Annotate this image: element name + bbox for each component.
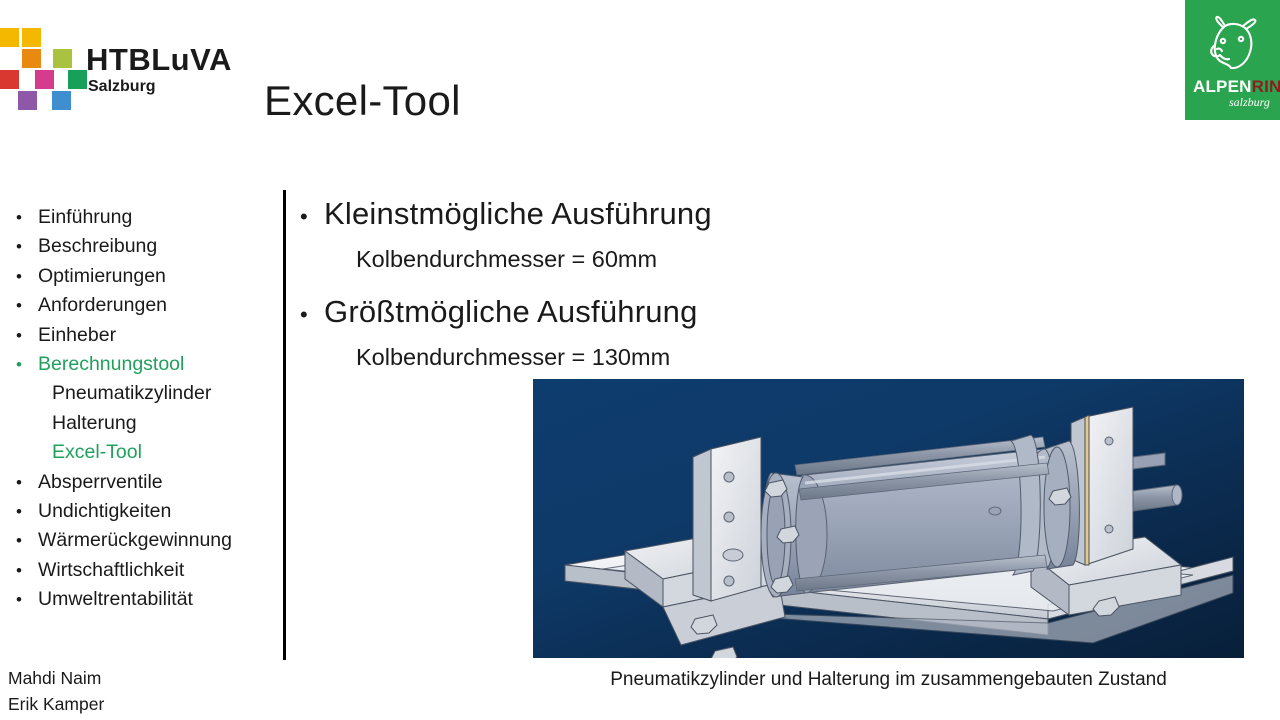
logo-square-3 — [22, 49, 41, 68]
partner-logo-wordmark: ALPENRIND — [1193, 78, 1280, 95]
agenda-item-label: Einheber — [38, 321, 116, 350]
agenda-item-label: Pneumatikzylinder — [52, 379, 211, 408]
bullet-glyph: • — [10, 526, 38, 555]
logo-square-5 — [0, 70, 19, 89]
bullet-glyph: • — [10, 585, 38, 614]
main-detail-1: Kolbendurchmesser = 60mm — [300, 239, 900, 279]
partner-logo: ALPENRIND salzburg — [1185, 0, 1280, 120]
bullet-glyph: • — [10, 556, 38, 585]
main-bullet-1-label: Kleinstmögliche Ausführung — [324, 192, 712, 236]
main-content: • Kleinstmögliche Ausführung Kolbendurch… — [300, 192, 900, 377]
bullet-glyph: • — [300, 293, 324, 337]
agenda-item-label: Excel-Tool — [52, 438, 142, 467]
logo-square-4 — [53, 49, 72, 68]
slide: HTBLuVA Salzburg ALPENRIND salzburg Exce… — [0, 0, 1280, 720]
agenda-item-anforderungen[interactable]: •Anforderungen — [10, 291, 290, 320]
main-bullet-2-label: Größtmögliche Ausführung — [324, 290, 698, 334]
logo-square-6 — [35, 70, 54, 89]
agenda-item-wirtschaftlichkeit[interactable]: •Wirtschaftlichkeit — [10, 556, 290, 585]
agenda-item-einf-hrung[interactable]: •Einführung — [10, 203, 290, 232]
author-2: Erik Kamper — [8, 691, 104, 717]
agenda-item-label: Wärmerückgewinnung — [38, 526, 232, 555]
school-logo-city: Salzburg — [88, 79, 156, 95]
pneumatic-cylinder-illustration — [533, 379, 1244, 658]
main-bullet-1: • Kleinstmögliche Ausführung — [300, 192, 900, 239]
partner-word-alpen: ALPEN — [1193, 77, 1252, 96]
agenda-item-label: Berechnungstool — [38, 350, 184, 379]
agenda-item-label: Undichtigkeiten — [38, 497, 171, 526]
agenda-item-label: Optimierungen — [38, 262, 166, 291]
main-detail-2: Kolbendurchmesser = 130mm — [300, 337, 900, 377]
partner-word-rind: RIND — [1252, 77, 1280, 96]
logo-color-grid — [0, 28, 86, 90]
logo-square-7 — [68, 70, 87, 89]
logo-square-9 — [52, 91, 71, 110]
agenda-item-label: Absperrventile — [38, 468, 163, 497]
agenda-item-label: Beschreibung — [38, 232, 157, 261]
figure-caption: Pneumatikzylinder und Halterung im zusam… — [533, 669, 1244, 691]
school-logo: HTBLuVA Salzburg — [0, 18, 240, 110]
agenda-item-w-rmer-ckgewinnung[interactable]: •Wärmerückgewinnung — [10, 526, 290, 555]
bullet-glyph: • — [10, 321, 38, 350]
agenda-item-excel-tool[interactable]: Excel-Tool — [10, 438, 290, 467]
agenda-item-halterung[interactable]: Halterung — [10, 409, 290, 438]
agenda-list: •Einführung•Beschreibung•Optimierungen•A… — [10, 203, 290, 615]
agenda-item-beschreibung[interactable]: •Beschreibung — [10, 232, 290, 261]
partner-logo-city: salzburg — [1229, 95, 1270, 110]
logo-square-1 — [0, 28, 19, 47]
agenda-item-umweltrentabilit-t[interactable]: •Umweltrentabilität — [10, 585, 290, 614]
bullet-glyph: • — [10, 232, 38, 261]
bullet-glyph: • — [300, 195, 324, 239]
bullet-glyph: • — [10, 497, 38, 526]
cow-head-icon — [1203, 14, 1265, 76]
cad-figure — [533, 379, 1244, 658]
bullet-glyph: • — [10, 203, 38, 232]
agenda-item-label: Wirtschaftlichkeit — [38, 556, 184, 585]
main-bullet-2: • Größtmögliche Ausführung — [300, 290, 900, 337]
agenda-item-label: Anforderungen — [38, 291, 167, 320]
bullet-glyph: • — [10, 262, 38, 291]
agenda-item-label: Halterung — [52, 409, 137, 438]
agenda-item-label: Einführung — [38, 203, 132, 232]
agenda-item-optimierungen[interactable]: •Optimierungen — [10, 262, 290, 291]
logo-square-8 — [18, 91, 37, 110]
agenda-item-einheber[interactable]: •Einheber — [10, 321, 290, 350]
agenda-item-undichtigkeiten[interactable]: •Undichtigkeiten — [10, 497, 290, 526]
logo-square-2 — [22, 28, 41, 47]
authors: Mahdi Naim Erik Kamper — [8, 665, 104, 717]
agenda-item-berechnungstool[interactable]: •Berechnungstool — [10, 350, 290, 379]
agenda-item-pneumatikzylinder[interactable]: Pneumatikzylinder — [10, 379, 290, 408]
bullet-glyph: • — [10, 291, 38, 320]
school-logo-name: HTBLuVA — [86, 44, 232, 75]
agenda-item-absperrventile[interactable]: •Absperrventile — [10, 468, 290, 497]
bullet-glyph: • — [10, 468, 38, 497]
spacer — [300, 279, 900, 290]
agenda-item-label: Umweltrentabilität — [38, 585, 193, 614]
author-1: Mahdi Naim — [8, 665, 104, 691]
page-title: Excel-Tool — [264, 78, 461, 124]
bullet-glyph: • — [10, 350, 38, 379]
